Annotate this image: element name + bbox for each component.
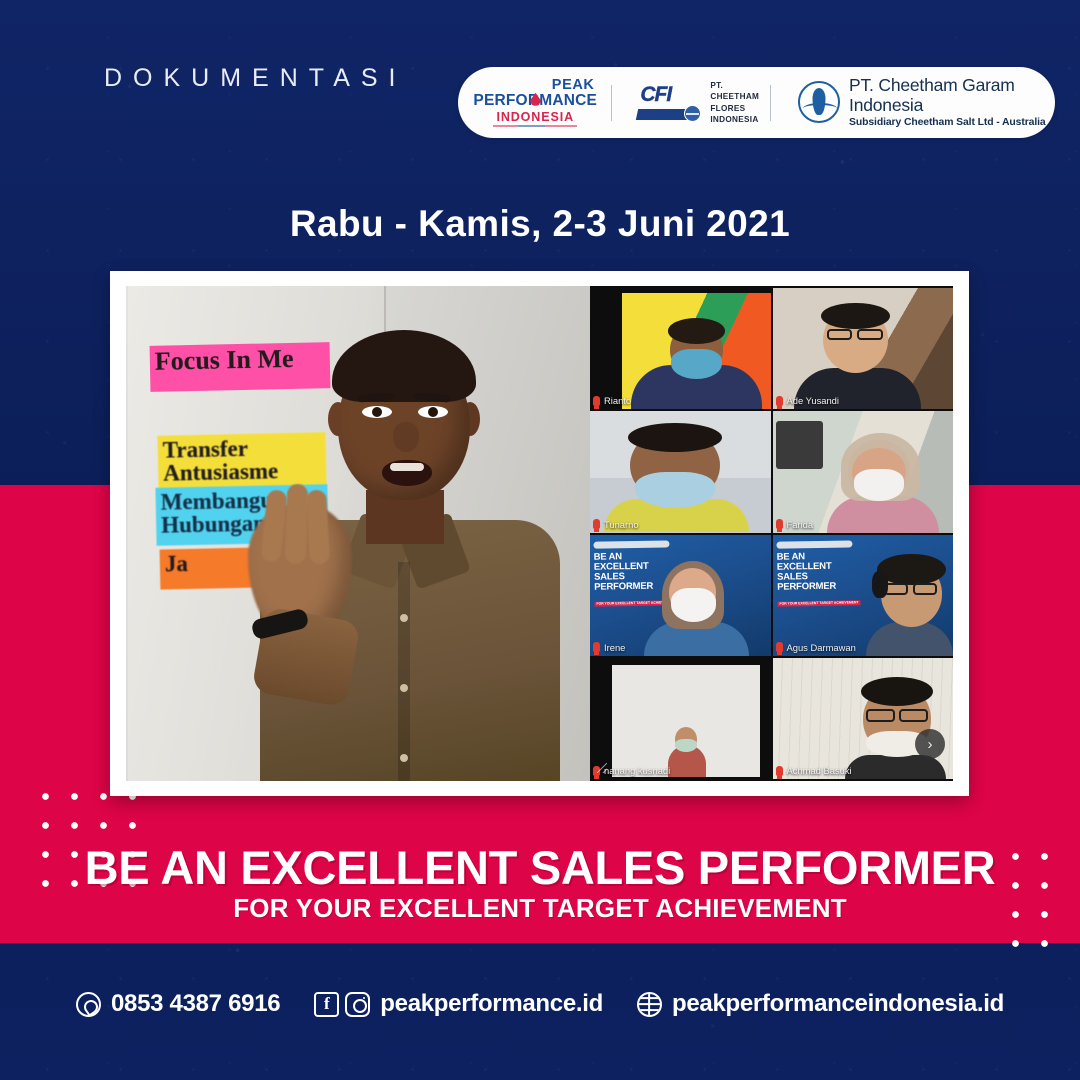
speaker-figure — [246, 314, 576, 781]
logo-cfi: CFI PT. CHEETHAM FLORES INDONESIA — [637, 80, 759, 124]
cheetham-title: PT. Cheetham Garam Indonesia — [849, 76, 1055, 115]
logo-bar: PEAK PERFORMANCE INDONESIA CFI PT. CHEET… — [458, 67, 1055, 138]
avatar-body — [866, 622, 953, 656]
participant-video: BE AN EXCELLENT SALES PERFORMER FOR YOUR… — [590, 535, 771, 656]
speaker-placket — [398, 562, 410, 781]
resize-grip-icon[interactable] — [597, 763, 607, 773]
participant-tile[interactable]: BE AN EXCELLENT SALES PERFORMER FOR YOUR… — [773, 535, 954, 656]
cfi-wordmark: CFI — [640, 84, 671, 105]
footer-contact-bar: 0853 4387 6916 f peakperformance.id peak… — [0, 990, 1080, 1018]
participant-video — [773, 658, 954, 779]
logo-divider-2 — [770, 85, 771, 121]
page-kicker: DOKUMENTASI — [104, 64, 407, 93]
face-mask — [854, 469, 905, 501]
poster-subheadline: FOR YOUR EXCELLENT TARGET ACHIEVEMENT — [0, 893, 1080, 924]
mic-muted-icon — [776, 642, 783, 652]
mic-muted-icon — [776, 396, 783, 406]
cfi-subtitle: PT. CHEETHAM FLORES INDONESIA — [710, 80, 759, 124]
avatar-hair — [668, 318, 724, 344]
participant-tile[interactable]: nanang kusnadi — [590, 658, 771, 779]
mic-muted-icon — [593, 642, 600, 652]
cfi-globe-icon — [684, 105, 701, 122]
participant-grid: Rianto Ade Yusandi — [590, 286, 953, 781]
photo-frame: Focus In Me Transfer Antusiasme Membangu… — [110, 271, 969, 796]
next-page-button[interactable]: › — [915, 729, 945, 759]
glasses-right — [913, 583, 936, 595]
participant-video — [773, 411, 954, 532]
participant-name: Farida — [787, 519, 814, 530]
footer-phone[interactable]: 0853 4387 6916 — [76, 990, 280, 1018]
participant-name: Tunarno — [604, 519, 639, 530]
slide-topbar — [776, 540, 852, 548]
poster-canvas: DOKUMENTASI PEAK PERFORMANCE INDONESIA C… — [0, 0, 1080, 1080]
slide-topbar — [593, 540, 669, 548]
participant-nameplate: Tunarno — [593, 519, 639, 530]
face-mask — [671, 349, 721, 379]
participant-name: Ade Yusandi — [787, 395, 839, 406]
glasses-left — [866, 709, 895, 722]
face-mask — [635, 472, 714, 508]
mic-muted-icon — [776, 519, 783, 529]
globe-icon — [637, 992, 662, 1017]
avatar-body — [827, 496, 939, 532]
participant-nameplate: Ade Yusandi — [776, 395, 839, 406]
participant-video — [622, 293, 770, 409]
wall-frame — [776, 421, 823, 470]
slide-line3: FOR YOUR EXCELLENT TARGET ACHIEVEMENT — [777, 600, 860, 607]
participant-nameplate: Achmad Basuki — [776, 765, 852, 776]
participant-name: nanang kusnadi — [604, 765, 670, 776]
seahorse-icon — [798, 81, 840, 123]
glasses-right — [857, 329, 882, 340]
speaker-eye-left — [362, 406, 392, 418]
glasses-right — [899, 709, 928, 722]
speaker-mouth — [382, 460, 432, 486]
logo-peak-performance: PEAK PERFORMANCE INDONESIA — [470, 78, 600, 128]
participant-name: Rianto — [604, 395, 631, 406]
participant-tile[interactable]: Ade Yusandi — [773, 288, 954, 409]
face-mask — [671, 588, 716, 622]
peak-logo-line1: PEAK — [470, 78, 600, 93]
screenshot-image: Focus In Me Transfer Antusiasme Membangu… — [126, 286, 953, 781]
participant-tile[interactable]: Achmad Basuki — [773, 658, 954, 779]
headset-earcup — [872, 571, 888, 598]
speaker-finger-3 — [306, 490, 330, 565]
participant-nameplate: Farida — [776, 519, 814, 530]
mic-muted-icon — [776, 766, 783, 776]
footer-website[interactable]: peakperformanceindonesia.id — [637, 990, 1004, 1018]
logo-cheetham-garam: PT. Cheetham Garam Indonesia Subsidiary … — [798, 76, 1055, 129]
cfi-mark-icon: CFI — [637, 82, 699, 124]
cfi-sub-line3: FLORES — [710, 103, 759, 114]
footer-social[interactable]: f peakperformance.id — [314, 990, 603, 1018]
peak-logo-line3: INDONESIA — [470, 111, 600, 124]
participant-name: Agus Darmawan — [787, 642, 856, 653]
participant-video: BE AN EXCELLENT SALES PERFORMER FOR YOUR… — [773, 535, 954, 656]
cfi-sub-line2: CHEETHAM — [710, 91, 759, 102]
speaker-video-pane: Focus In Me Transfer Antusiasme Membangu… — [126, 286, 590, 781]
speaker-nose — [393, 422, 419, 452]
cfi-sub-line1: PT. — [710, 80, 759, 91]
speaker-eye-right — [418, 406, 448, 418]
speaker-button-2 — [400, 684, 408, 692]
mic-muted-icon — [593, 519, 600, 529]
instagram-icon — [345, 992, 370, 1017]
glasses-left — [827, 329, 852, 340]
slide-line2: SALES PERFORMER — [776, 571, 860, 592]
participant-video — [773, 288, 954, 409]
poster-headline: BE AN EXCELLENT SALES PERFORMER — [0, 840, 1080, 895]
participant-nameplate: Agus Darmawan — [776, 642, 856, 653]
slide-line1: BE AN EXCELLENT — [594, 551, 678, 572]
mic-muted-icon — [593, 396, 600, 406]
participant-video — [612, 665, 760, 777]
participant-nameplate: Irene — [593, 642, 625, 653]
website-url: peakperformanceindonesia.id — [672, 990, 1004, 1018]
speaker-finger-2 — [285, 484, 309, 565]
logo-divider-1 — [611, 85, 612, 121]
avatar-hair — [821, 303, 890, 330]
cheetham-subtitle: Subsidiary Cheetham Salt Ltd - Australia — [849, 117, 1055, 129]
slide-line1: BE AN EXCELLENT — [776, 551, 860, 572]
event-date: Rabu - Kamis, 2-3 Juni 2021 — [0, 203, 1080, 245]
participant-tile[interactable]: Tunarno — [590, 411, 771, 532]
participant-video — [590, 411, 771, 532]
cfi-sub-line4: INDONESIA — [710, 114, 759, 125]
speaker-hair — [332, 330, 476, 402]
participant-name: Irene — [604, 642, 625, 653]
participant-tile[interactable]: BE AN EXCELLENT SALES PERFORMER FOR YOUR… — [590, 535, 771, 656]
participant-name: Achmad Basuki — [787, 765, 852, 776]
speaker-button-3 — [400, 754, 408, 762]
participant-nameplate: Rianto — [593, 395, 631, 406]
phone-number: 0853 4387 6916 — [111, 990, 280, 1018]
facebook-icon: f — [314, 992, 339, 1017]
speaker-button-1 — [400, 614, 408, 622]
whatsapp-icon — [76, 992, 101, 1017]
participant-tile[interactable]: Rianto — [590, 288, 771, 409]
social-handle: peakperformance.id — [380, 990, 603, 1018]
participant-tile[interactable]: Farida — [773, 411, 954, 532]
virtual-background-slide: BE AN EXCELLENT SALES PERFORMER FOR YOUR… — [776, 540, 861, 609]
peak-logo-rule — [493, 125, 577, 127]
